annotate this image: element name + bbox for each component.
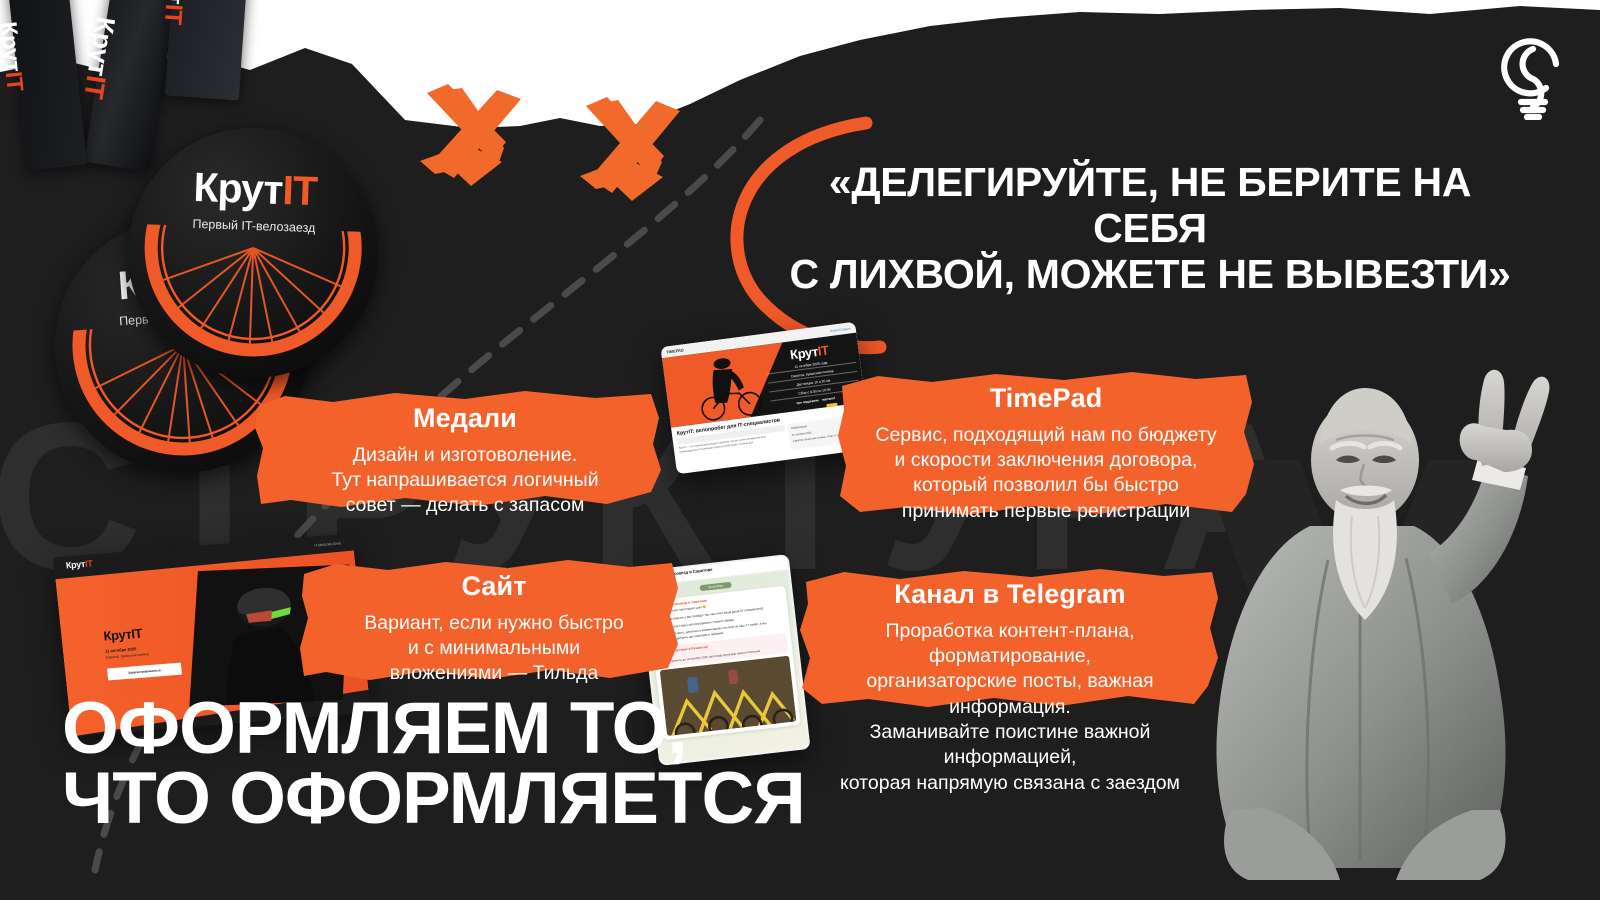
quote-line-2: С ЛИХВОЙ, МОЖЕТЕ НЕ ВЫВЕЗТИ» (770, 252, 1530, 298)
card-timepad-line-2: и скорости заключения договора, (895, 449, 1198, 471)
ribbon-brand-suffix: IT (78, 73, 111, 100)
card-telegram-line-1: Проработка контент-плана, форматирование… (885, 620, 1134, 667)
card-site-title: Сайт (338, 572, 650, 602)
card-site: Сайт Вариант, если нужно быстро и с мини… (300, 558, 680, 686)
card-medals-title: Медали (299, 404, 631, 434)
tp-brand-prefix: Крут (789, 344, 819, 363)
headline-line-2: ЧТО ОФОРМЛЯЕТСЯ (62, 764, 805, 834)
medals-photo: КрутIT КрутIT КрутIT КрутIT Первый IT-ве… (0, 0, 400, 440)
ribbon2-brand-suffix: IT (1, 70, 29, 92)
card-medals: Медали Дизайн и изготоволение. Тут напра… (255, 388, 665, 512)
card-site-line-3: вложениями — Тильда (390, 662, 599, 684)
card-timepad-line-4: принимать первые регистрации (902, 500, 1190, 522)
ribbon-brand-prefix: Крут (82, 15, 121, 78)
timepad-nav[interactable]: Войти Создать (830, 326, 851, 333)
headline-line-1: ОФОРМЛЯЕМ ТО, (62, 694, 805, 764)
card-telegram-line-3: Заманивайте поистине важной информацией, (870, 721, 1151, 768)
site-hero-brand-suffix: IT (131, 626, 143, 642)
medal-disc-front: КрутIT Первый IT-велозаезд (124, 124, 383, 383)
telegram-date-chip: 18 октября (699, 582, 731, 592)
card-telegram-line-2: организаторские посты, важная информация… (866, 670, 1153, 717)
card-timepad: TimePad Сервис, подходящий нам по бюджет… (836, 370, 1256, 520)
site-brand-prefix: Крут (65, 559, 85, 570)
card-medals-line-1: Дизайн и изготоволение. (353, 444, 577, 466)
card-telegram-title: Канал в Telegram (814, 580, 1206, 610)
presentation-slide: СТРУКТУРА КрутIT КрутIT КрутIT КрутIT Пе… (0, 0, 1600, 900)
sponsor-label: при поддержке (796, 398, 819, 405)
medal1-brand-suffix: IT (282, 167, 318, 214)
bicycle-wheel-graphic (136, 224, 367, 382)
card-medals-line-2: Тут напрашивается логичный (331, 469, 598, 491)
ribbon2-brand-prefix: Крут (0, 20, 27, 73)
medal1-brand-prefix: Крут (193, 164, 283, 213)
card-medals-line-3: совет — делать с запасом (346, 494, 585, 516)
quote-line-1: «ДЕЛЕГИРУЙТЕ, НЕ БЕРИТЕ НА СЕБЯ (770, 160, 1530, 252)
card-timepad-line-1: Сервис, подходящий нам по бюджету (875, 424, 1216, 446)
pull-quote: «ДЕЛЕГИРУЙТЕ, НЕ БЕРИТЕ НА СЕБЯ С ЛИХВОЙ… (770, 160, 1530, 298)
site-logo: КрутIT (65, 558, 93, 570)
site-phone[interactable]: +7 (800) 000-00-00 (314, 541, 342, 547)
lightbulb-s-logo (1494, 34, 1572, 120)
card-timepad-title: TimePad (858, 384, 1234, 414)
site-brand-suffix: IT (85, 558, 93, 569)
slide-headline: ОФОРМЛЯЕМ ТО, ЧТО ОФОРМЛЯЕТСЯ (62, 694, 805, 834)
tp-brand-suffix: IT (817, 342, 830, 358)
card-telegram-line-4: которая напрямую связана с заездом (840, 772, 1180, 794)
timepad-site-logo: TIMEPAD (666, 347, 684, 354)
site-hero-brand-prefix: Крут (103, 627, 132, 644)
sponsor-1: порталof (821, 396, 835, 402)
card-telegram: Канал в Telegram Проработка контент-план… (800, 568, 1220, 710)
site-hero-copy: КрутIT 11 октября 2025 Саратов, Кумысная… (103, 623, 182, 681)
card-timepad-line-3: который позволил бы быстро (913, 474, 1179, 496)
card-site-line-1: Вариант, если нужно быстро (364, 612, 623, 634)
ribbon3-brand-suffix: IT (159, 3, 187, 25)
card-site-line-2: и с минимальными (408, 637, 580, 659)
